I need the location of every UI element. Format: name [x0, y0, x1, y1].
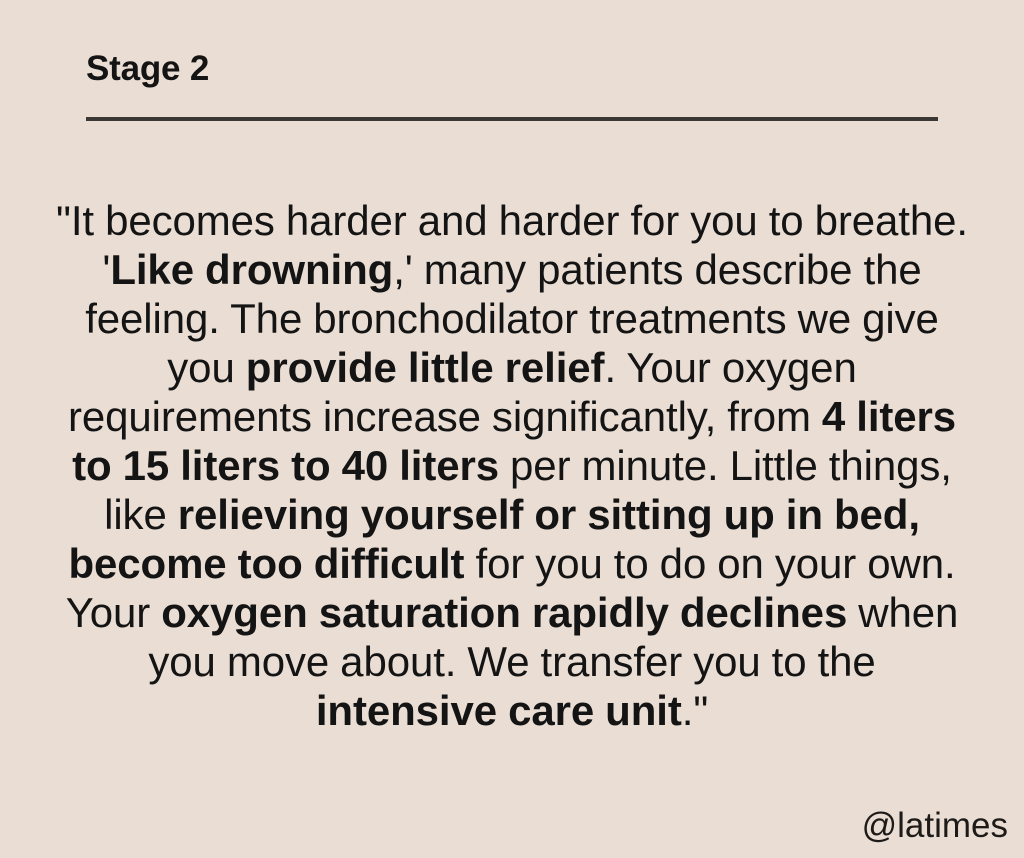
quote-emphasis: intensive care unit — [316, 687, 682, 734]
page-title: Stage 2 — [86, 49, 938, 89]
quote-block: "It becomes harder and harder for you to… — [54, 196, 970, 735]
quote-emphasis: provide little relief — [246, 344, 605, 391]
account-handle: @latimes — [862, 806, 1008, 846]
quote-emphasis: oxygen saturation rapidly declines — [161, 589, 847, 636]
header-divider — [86, 117, 938, 121]
card-header: Stage 2 — [86, 49, 938, 121]
quote-text: "It becomes harder and harder for you to… — [54, 196, 970, 735]
social-card: Stage 2 "It becomes harder and harder fo… — [0, 0, 1024, 858]
quote-run: ." — [682, 687, 708, 734]
quote-emphasis: Like drowning — [110, 246, 393, 293]
